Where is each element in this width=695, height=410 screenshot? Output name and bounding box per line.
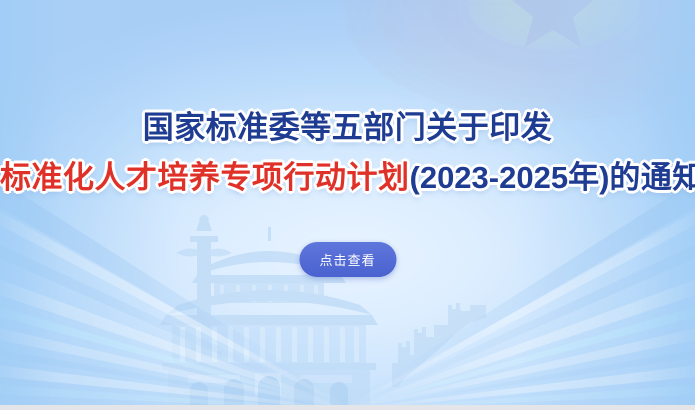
headline-year-range: (2023-2025年) xyxy=(410,160,610,195)
light-rays-decoration xyxy=(0,180,695,410)
emblem-rays xyxy=(467,0,639,50)
banner-headline: 国家标准委等五部门关于印发 标准化人才培养专项行动计划(2023-2025年)的… xyxy=(0,112,695,193)
headline-emphasis-text: 标准化人才培养专项行动计划 xyxy=(0,160,410,195)
view-details-button[interactable]: 点击查看 xyxy=(299,242,396,277)
emblem-rings xyxy=(343,0,695,121)
monument-silhouettes xyxy=(0,205,695,405)
footer-strip xyxy=(0,405,695,410)
edge-vignette xyxy=(0,0,695,410)
left-rays xyxy=(0,180,347,410)
huabiao-column-icon xyxy=(176,215,232,358)
promo-banner: 国家标准委等五部门关于印发 标准化人才培养专项行动计划(2023-2025年)的… xyxy=(0,0,695,410)
national-emblem-watermark xyxy=(338,0,695,124)
emblem-star-icon xyxy=(509,0,597,47)
great-wall-icon xyxy=(392,303,486,387)
headline-line-2: 标准化人才培养专项行动计划(2023-2025年)的通知 xyxy=(0,162,695,193)
headline-line-1: 国家标准委等五部门关于印发 xyxy=(0,112,695,143)
emblem-scallops xyxy=(375,0,695,39)
headline-tail-text: 的通知 xyxy=(609,160,695,195)
right-rays xyxy=(348,180,695,410)
